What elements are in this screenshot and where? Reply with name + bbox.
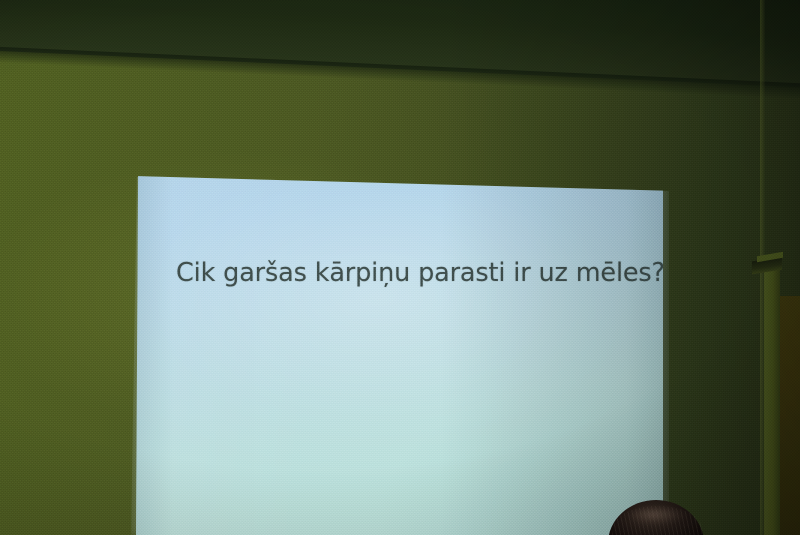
doorway-panel xyxy=(778,296,800,535)
door-frame xyxy=(764,262,780,535)
slide-question-text: Cik garšas kārpiņu parasti ir uz mēles? xyxy=(176,258,646,290)
hair-sheen-highlight xyxy=(630,508,686,524)
projector-light-wash xyxy=(136,174,663,535)
projection-screen: Cik garšas kārpiņu parasti ir uz mēles? … xyxy=(136,174,663,535)
photo-scene: Cik garšas kārpiņu parasti ir uz mēles? … xyxy=(0,0,800,535)
